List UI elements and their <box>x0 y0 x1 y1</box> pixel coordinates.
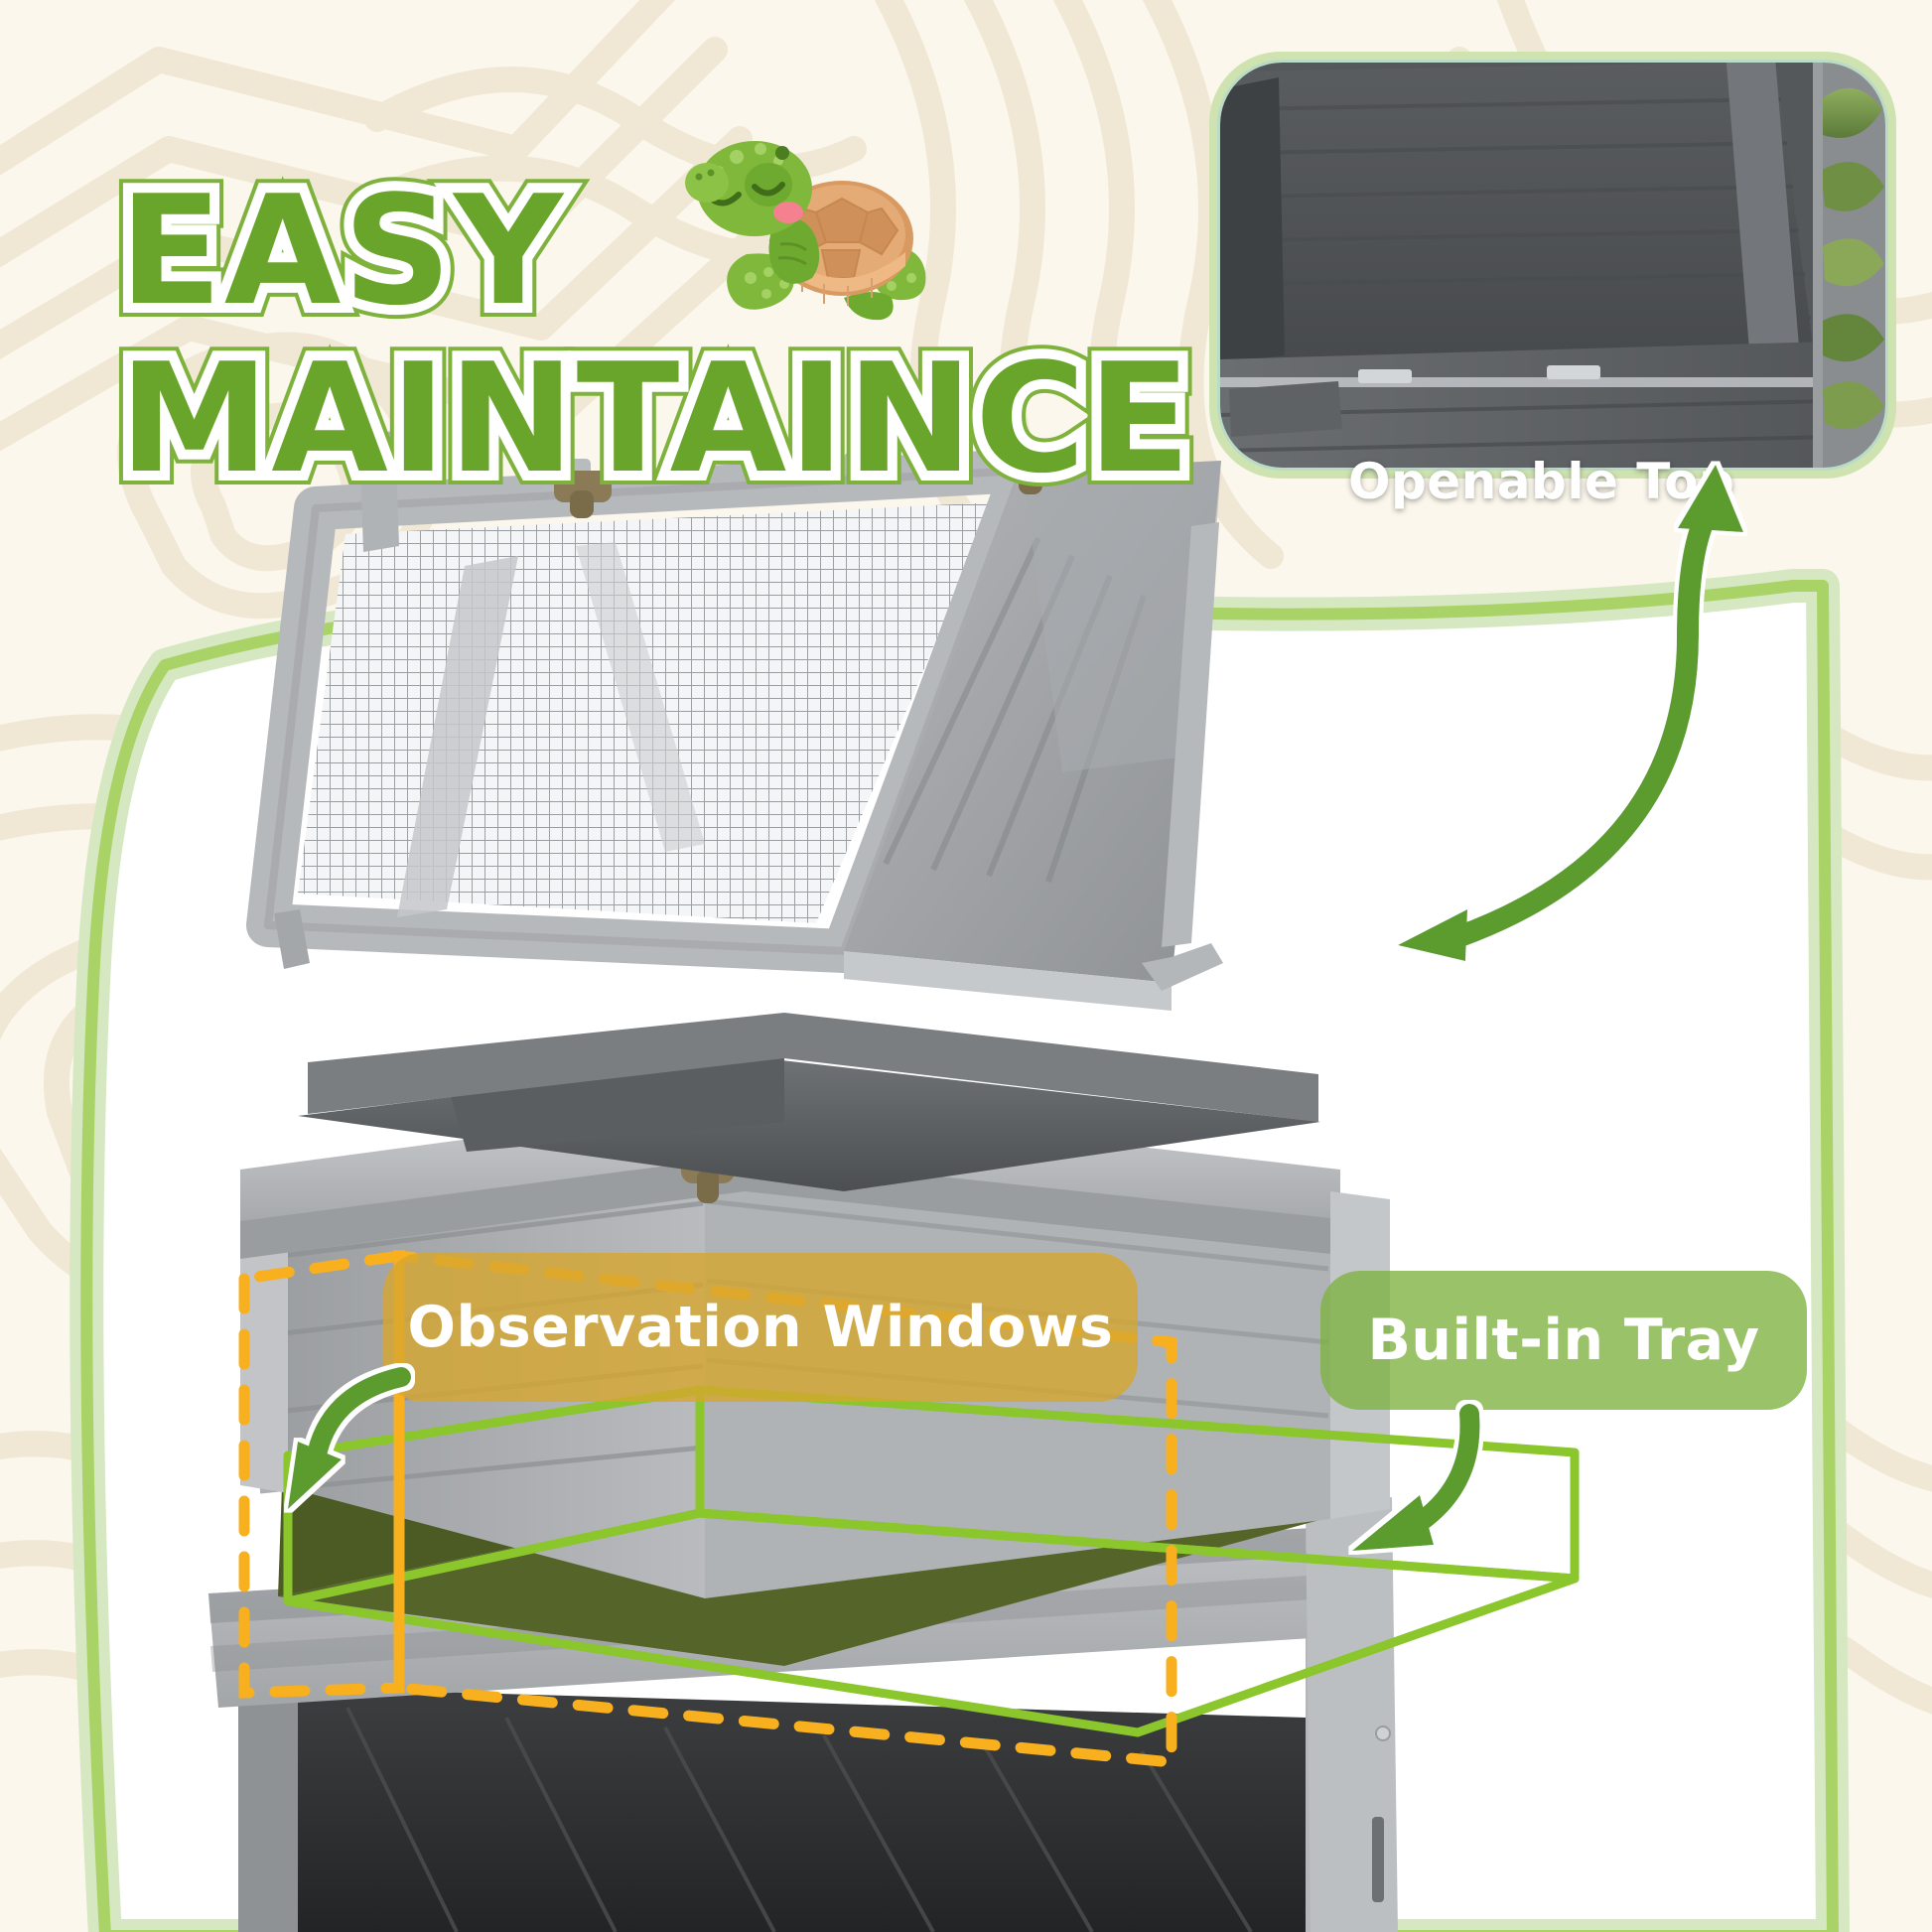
product-tortoise-house <box>149 427 1499 1932</box>
inset-label-openable-top: Openable Top <box>1348 453 1734 510</box>
infographic-canvas: EASY EASY MAINTAINCE MAINTAINCE <box>0 0 1932 1932</box>
turtle-mascot-icon <box>685 127 933 326</box>
badge-built-in-tray[interactable]: Built-in Tray <box>1320 1271 1807 1410</box>
badge-observation-windows[interactable]: Observation Windows <box>383 1253 1138 1402</box>
badge-observation-windows-label: Observation Windows <box>408 1295 1114 1360</box>
headline-line1: EASY <box>119 174 1092 328</box>
inset-openable-top-photo <box>1219 62 1886 469</box>
badge-built-in-tray-label: Built-in Tray <box>1367 1308 1759 1373</box>
headline-line2: MAINTAINCE <box>119 342 1092 495</box>
headline: EASY EASY MAINTAINCE MAINTAINCE <box>119 174 1092 495</box>
